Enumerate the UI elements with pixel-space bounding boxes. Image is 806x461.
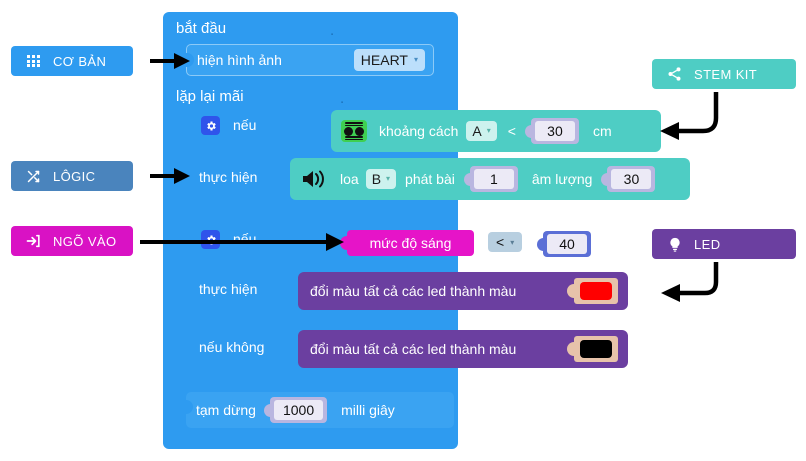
color-picker-black[interactable] bbox=[574, 336, 618, 362]
if-label-1: nếu bbox=[233, 117, 256, 133]
set-led-label: đổi màu tất cả các led thành màu bbox=[310, 283, 516, 299]
set-led-label: đổi màu tất cả các led thành màu bbox=[310, 341, 516, 357]
play-sound-block[interactable]: loa B ▾ phát bài 1 âm lượng 30 bbox=[290, 158, 690, 200]
callout-badge-led-label: LED bbox=[694, 237, 721, 252]
if-label-2: nếu bbox=[233, 231, 256, 247]
speaker-icon bbox=[300, 167, 330, 191]
light-level-block[interactable]: mức độ sáng bbox=[347, 230, 474, 256]
pause-label: tạm dừng bbox=[196, 402, 256, 418]
track-value[interactable]: 1 bbox=[474, 169, 514, 189]
comparison-operator-dropdown[interactable]: < ▾ bbox=[488, 232, 522, 252]
robot-face-icon bbox=[341, 120, 367, 142]
callout-badge-stem-kit[interactable]: STEM KIT bbox=[652, 59, 796, 89]
set-all-leds-block-then[interactable]: đổi màu tất cả các led thành màu bbox=[298, 272, 628, 310]
callout-badge-stem-kit-label: STEM KIT bbox=[694, 67, 757, 82]
chevron-down-icon: ▾ bbox=[386, 170, 390, 188]
gear-icon[interactable] bbox=[201, 116, 220, 135]
show-icon-block[interactable]: hiện hình ảnh HEART ▾ bbox=[186, 44, 434, 76]
show-icon-label: hiện hình ảnh bbox=[197, 52, 282, 68]
comparison-operator-value: < bbox=[496, 234, 504, 250]
on-start-label: bắt đầu bbox=[176, 20, 226, 37]
speaker-label: loa bbox=[340, 171, 359, 187]
play-track-label: phát bài bbox=[405, 171, 455, 187]
pause-value[interactable]: 1000 bbox=[274, 400, 323, 420]
pause-block[interactable]: tạm dừng 1000 milli giây bbox=[186, 392, 454, 428]
volume-label: âm lượng bbox=[532, 171, 593, 187]
callout-badge-basic-label: CƠ BẢN bbox=[53, 54, 106, 69]
callout-badge-basic[interactable]: CƠ BẢN bbox=[11, 46, 133, 76]
volume-value-slot[interactable]: 30 bbox=[607, 166, 655, 192]
track-value-slot[interactable]: 1 bbox=[470, 166, 518, 192]
blockly-canvas: bắt đầu . hiện hình ảnh HEART ▾ lặp lại … bbox=[0, 0, 806, 461]
lightbulb-icon bbox=[666, 236, 683, 253]
distance-value[interactable]: 30 bbox=[535, 121, 575, 141]
share-icon bbox=[666, 66, 683, 83]
pause-unit: milli giây bbox=[341, 402, 395, 418]
grid-icon bbox=[25, 53, 42, 70]
set-all-leds-block-else[interactable]: đổi màu tất cả các led thành màu bbox=[298, 330, 628, 368]
callout-badge-led[interactable]: LED bbox=[652, 229, 796, 259]
forever-dot: . bbox=[340, 90, 344, 107]
callout-badge-input-label: NGÕ VÀO bbox=[53, 234, 116, 249]
forever-label: lặp lại mãi bbox=[176, 88, 244, 105]
distance-value-slot[interactable]: 30 bbox=[531, 118, 579, 144]
callout-badge-input[interactable]: NGÕ VÀO bbox=[11, 226, 133, 256]
light-threshold-slot[interactable]: 40 bbox=[543, 231, 591, 257]
color-swatch bbox=[580, 282, 612, 300]
pause-value-slot[interactable]: 1000 bbox=[270, 397, 327, 423]
light-level-label: mức độ sáng bbox=[370, 235, 452, 251]
show-icon-dropdown[interactable]: HEART ▾ bbox=[354, 49, 425, 71]
chevron-down-icon: ▾ bbox=[414, 51, 418, 69]
distance-port-dropdown[interactable]: A ▾ bbox=[466, 121, 496, 141]
distance-label: khoảng cách bbox=[379, 123, 458, 139]
speaker-port-value: B bbox=[372, 170, 381, 188]
color-picker-red[interactable] bbox=[574, 278, 618, 304]
do-label-1: thực hiện bbox=[199, 169, 257, 185]
distance-condition-block[interactable]: khoảng cách A ▾ < 30 cm bbox=[331, 110, 661, 152]
distance-operator: < bbox=[508, 123, 516, 139]
else-label-2: nếu không bbox=[199, 339, 264, 355]
block-notch bbox=[186, 53, 194, 67]
shuffle-icon bbox=[25, 168, 42, 185]
callout-badge-logic[interactable]: LÔGIC bbox=[11, 161, 133, 191]
sign-in-icon bbox=[25, 233, 42, 250]
speaker-port-dropdown[interactable]: B ▾ bbox=[366, 169, 396, 189]
chevron-down-icon: ▾ bbox=[510, 238, 514, 247]
color-swatch bbox=[580, 340, 612, 358]
do-label-2: thực hiện bbox=[199, 281, 257, 297]
chevron-down-icon: ▾ bbox=[487, 122, 491, 140]
callout-badge-logic-label: LÔGIC bbox=[53, 169, 95, 184]
on-start-dot: . bbox=[330, 22, 334, 39]
gear-icon[interactable] bbox=[201, 230, 220, 249]
light-threshold-value[interactable]: 40 bbox=[547, 234, 587, 254]
distance-unit: cm bbox=[593, 123, 612, 139]
show-icon-value: HEART bbox=[361, 51, 408, 69]
distance-port-value: A bbox=[472, 122, 481, 140]
volume-value[interactable]: 30 bbox=[611, 169, 651, 189]
